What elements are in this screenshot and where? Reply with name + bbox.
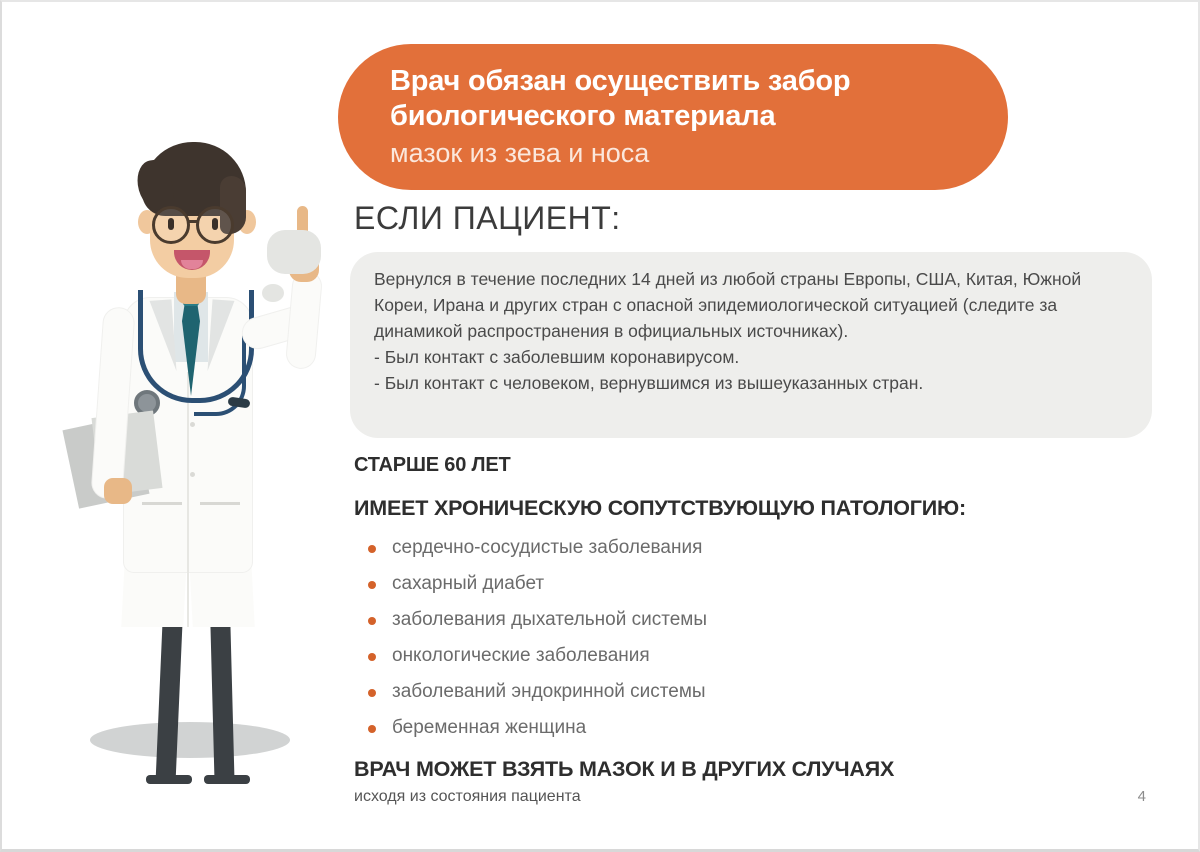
coat-pocket-right [200, 502, 240, 505]
banner-title-line2: биологического материала [390, 99, 964, 134]
coat-button [190, 422, 195, 427]
bullet-dot-icon [368, 653, 376, 661]
list-item: заболевания дыхательной системы [366, 602, 966, 638]
hand-left-icon [104, 478, 132, 504]
bullet-dot-icon [368, 581, 376, 589]
list-item-label: заболевания дыхательной системы [392, 609, 707, 630]
arm-right-forearm [286, 271, 322, 369]
list-item: онкологические заболевания [366, 638, 966, 674]
criteria-contact-sick: - Был контакт с заболевшим коронавирусом… [374, 344, 1126, 370]
banner-subtitle: мазок из зева и носа [390, 136, 964, 170]
coat-button [190, 472, 195, 477]
criteria-box: Вернулся в течение последних 14 дней из … [350, 252, 1152, 438]
floor-shadow [90, 722, 290, 758]
coat-pocket-left [142, 502, 182, 505]
eye-right-icon [212, 218, 218, 230]
content-column: ЕСЛИ ПАЦИЕНТ: [354, 198, 1154, 252]
slide: Врач обязан осуществить забор биологичес… [0, 0, 1200, 852]
bullet-dot-icon [368, 725, 376, 733]
bullet-dot-icon [368, 617, 376, 625]
list-item-label: сахарный диабет [392, 573, 544, 594]
page-number: 4 [1138, 788, 1146, 805]
heading-age-over-60: СТАРШЕ 60 ЛЕТ [354, 454, 510, 477]
bullet-dot-icon [368, 545, 376, 553]
doctor-illustration [42, 122, 342, 802]
shoe-left-icon [146, 775, 192, 784]
shoe-right-icon [204, 775, 250, 784]
list-item: заболеваний эндокринной системы [366, 674, 966, 710]
footer-subtitle: исходя из состояния пациента [354, 788, 581, 806]
hair-fringe [135, 158, 176, 212]
eye-left-icon [168, 218, 174, 230]
glasses-bridge [189, 220, 198, 223]
list-item-label: беременная женщина [392, 717, 586, 738]
list-item: сердечно-сосудистые заболевания [366, 530, 966, 566]
heading-chronic-pathology: ИМЕЕТ ХРОНИЧЕСКУЮ СОПУТСТВУЮЩУЮ ПАТОЛОГИ… [354, 496, 966, 521]
header-banner: Врач обязан осуществить забор биологичес… [338, 44, 1008, 190]
speech-bubble-icon [267, 230, 321, 274]
speech-bubble-dot [262, 284, 284, 302]
list-item-label: онкологические заболевания [392, 645, 650, 666]
criteria-contact-returned: - Был контакт с человеком, вернувшимся и… [374, 370, 1126, 396]
list-item-label: заболеваний эндокринной системы [392, 681, 706, 702]
bullet-dot-icon [368, 689, 376, 697]
list-item: сахарный диабет [366, 566, 966, 602]
list-item-label: сердечно-сосудистые заболевания [392, 537, 702, 558]
chronic-conditions-list: сердечно-сосудистые заболевания сахарный… [366, 530, 966, 746]
banner-title-line1: Врач обязан осуществить забор [390, 64, 964, 99]
coat-center-seam [187, 372, 189, 627]
footer-heading: ВРАЧ МОЖЕТ ВЗЯТЬ МАЗОК И В ДРУГИХ СЛУЧАЯ… [354, 757, 894, 782]
section-heading: ЕСЛИ ПАЦИЕНТ: [354, 198, 1154, 238]
list-item: беременная женщина [366, 710, 966, 746]
criteria-paragraph: Вернулся в течение последних 14 дней из … [374, 266, 1126, 344]
